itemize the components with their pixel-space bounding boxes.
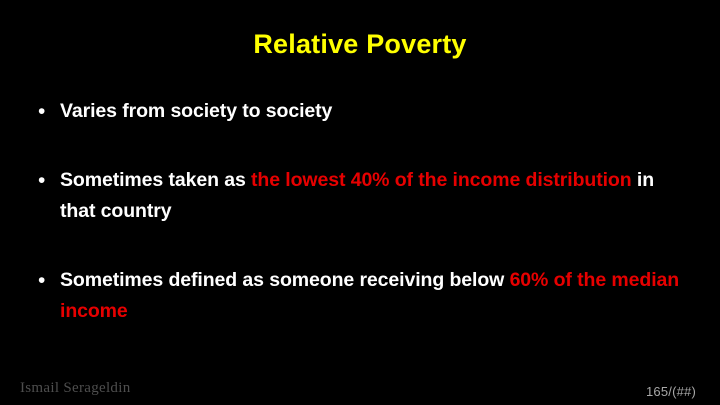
bullet-list: • Varies from society to society • Somet… [34, 96, 694, 327]
list-item: • Sometimes taken as the lowest 40% of t… [34, 165, 694, 227]
bullet-point-icon: • [34, 265, 60, 296]
presentation-slide: Relative Poverty • Varies from society t… [0, 0, 720, 405]
list-item-text: Sometimes taken as the lowest 40% of the… [60, 165, 680, 227]
list-item: • Varies from society to society [34, 96, 694, 127]
page-title: Relative Poverty [0, 30, 720, 60]
highlighted-text-segment: the lowest 40% of the income distributio… [251, 169, 632, 191]
list-item: • Sometimes defined as someone receiving… [34, 265, 694, 327]
footer-author: Ismail Serageldin [20, 380, 131, 397]
list-item-text: Varies from society to society [60, 96, 680, 127]
bullet-point-icon: • [34, 96, 60, 127]
text-segment: Sometimes defined as someone receiving b… [60, 269, 510, 291]
text-segment: Varies from society to society [60, 100, 332, 122]
list-item-text: Sometimes defined as someone receiving b… [60, 265, 680, 327]
text-segment: Sometimes taken as [60, 169, 251, 191]
footer-page-number: 165/(##) [646, 384, 696, 399]
bullet-point-icon: • [34, 165, 60, 196]
